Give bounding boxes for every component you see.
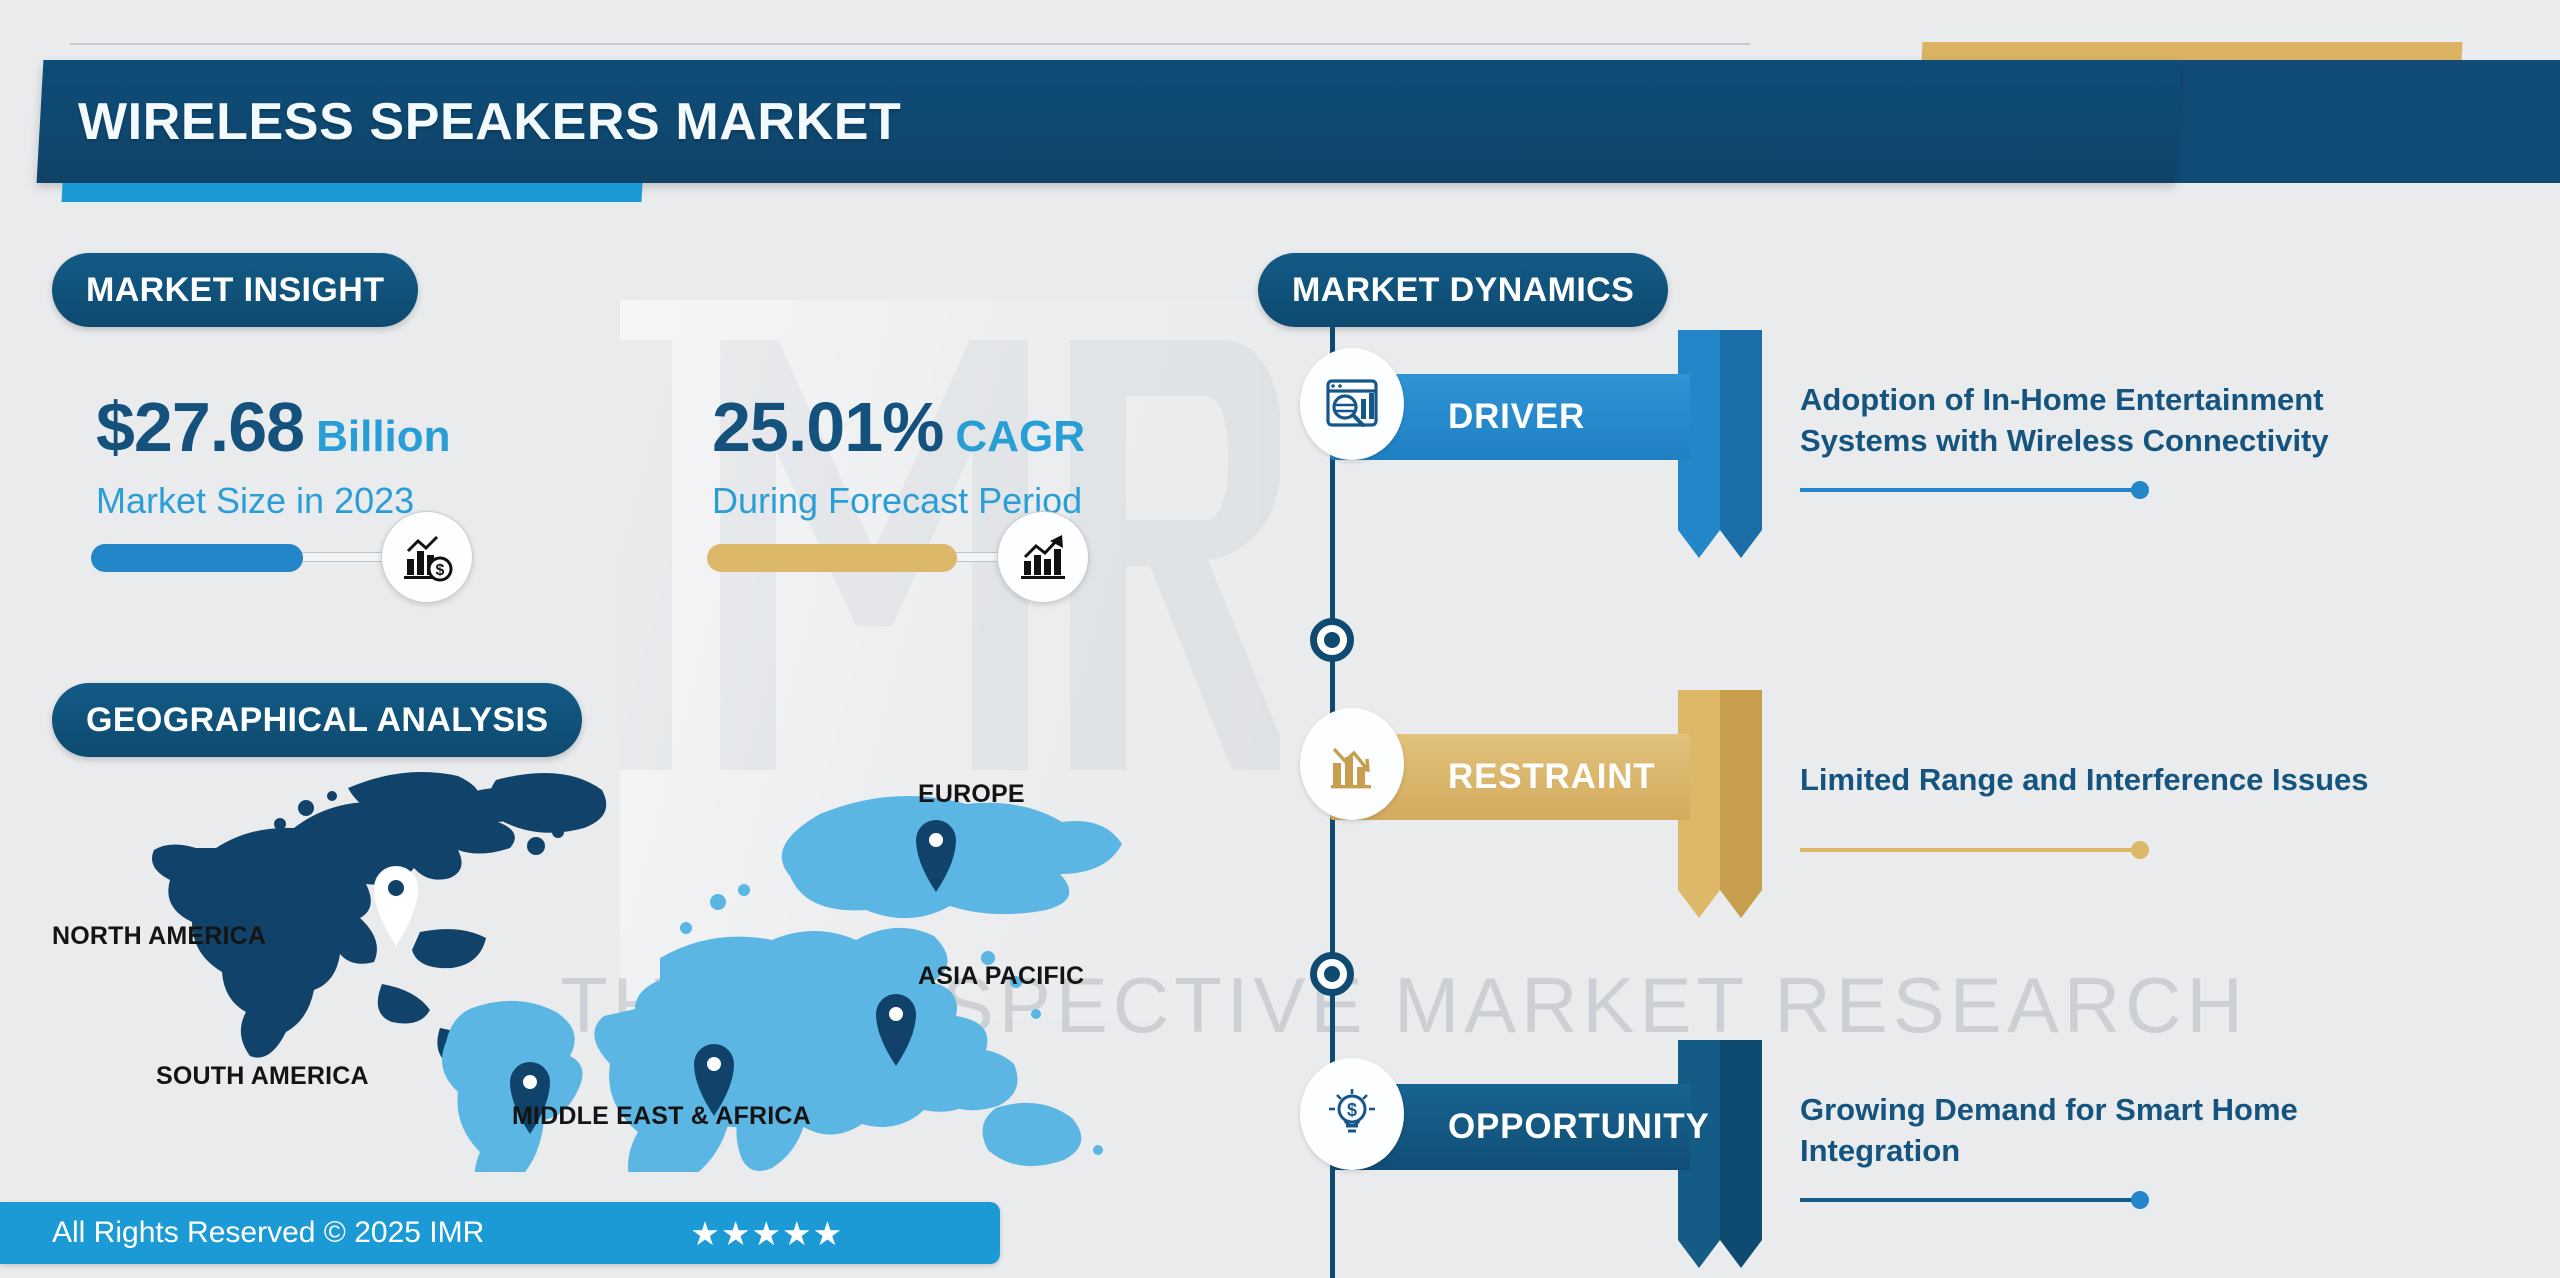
dynamics-underline (1800, 488, 2140, 492)
header-blue-accent (61, 183, 642, 202)
footer-bar: All Rights Reserved © 2025 IMR ★★★★★ (0, 1202, 1000, 1264)
underline-end-dot (2131, 1191, 2149, 1209)
star-rating-icon: ★★★★★ (690, 1214, 843, 1253)
progress-fill (91, 544, 303, 572)
stat-unit: Billion (316, 412, 450, 461)
dynamics-label: RESTRAINT (1448, 757, 1655, 797)
dynamics-text: Growing Demand for Smart Home Integratio… (1800, 1090, 2420, 1172)
dynamics-item-opportunity[interactable]: OPPORTUNITY $ Growing Demand for Smart H… (1330, 1040, 2560, 1278)
map-label-middle-east-africa: MIDDLE EAST & AFRICA (512, 1102, 811, 1131)
svg-text:$: $ (1347, 1100, 1357, 1120)
infographic-canvas: THE PROSPECTIVE MARKET RESEARCH WIRELESS… (0, 0, 2560, 1278)
svg-text:$: $ (436, 562, 445, 579)
map-pin-north-america (374, 866, 418, 946)
stat-market-size: $27.68Billion Market Size in 2023 $ (96, 392, 451, 562)
growth-arrow-chart-icon (997, 511, 1089, 603)
stat-value: $27.68 (96, 388, 304, 466)
dynamics-text: Adoption of In-Home Entertainment System… (1800, 380, 2420, 462)
progress-track-market-size: $ (96, 552, 426, 562)
page-title: WIRELESS SPEAKERS MARKET (78, 82, 901, 162)
timeline-node (1310, 952, 1354, 996)
dynamics-text: Limited Range and Interference Issues (1800, 760, 2420, 801)
stat-value: 25.01% (712, 388, 943, 466)
underline-end-dot (2131, 841, 2149, 859)
ribbon-chevron (1678, 1040, 1762, 1268)
header-gold-accent (1921, 42, 2462, 62)
map-label-south-america: SOUTH AMERICA (156, 1062, 369, 1091)
map-label-north-america: NORTH AMERICA (52, 922, 266, 951)
dynamics-item-driver[interactable]: DRIVER Adoption of In-Home Entertainment… (1330, 330, 2560, 570)
corner-notch (2534, 0, 2560, 26)
dynamics-label: OPPORTUNITY (1448, 1107, 1710, 1147)
header-hairline (70, 43, 1750, 45)
ribbon-chevron (1678, 690, 1762, 918)
map-label-asia-pacific: ASIA PACIFIC (918, 962, 1084, 991)
stat-caption: Market Size in 2023 (96, 480, 451, 522)
underline-end-dot (2131, 481, 2149, 499)
ribbon-chevron (1678, 330, 1762, 558)
bar-chart-dollar-icon: $ (381, 511, 473, 603)
section-heading-geographical-analysis: GEOGRAPHICAL ANALYSIS (52, 683, 582, 757)
map-label-europe: EUROPE (918, 780, 1025, 809)
header-band-right (2117, 60, 2560, 183)
section-heading-market-insight: MARKET INSIGHT (52, 253, 418, 327)
declining-chart-icon (1300, 708, 1404, 820)
dynamics-underline (1800, 848, 2140, 852)
timeline-node (1310, 618, 1354, 662)
progress-fill (707, 544, 957, 572)
dynamics-item-restraint[interactable]: RESTRAINT Limited Range and Interference… (1330, 690, 2560, 930)
stat-cagr: 25.01%CAGR During Forecast Period (712, 392, 1085, 562)
copyright-text: All Rights Reserved © 2025 IMR (52, 1216, 484, 1250)
stat-unit: CAGR (955, 412, 1085, 461)
dynamics-label: DRIVER (1448, 397, 1585, 437)
progress-track-cagr (712, 552, 1042, 562)
analytics-search-icon (1300, 348, 1404, 460)
section-heading-market-dynamics: MARKET DYNAMICS (1258, 253, 1668, 327)
lightbulb-dollar-icon: $ (1300, 1058, 1404, 1170)
dynamics-underline (1800, 1198, 2140, 1202)
